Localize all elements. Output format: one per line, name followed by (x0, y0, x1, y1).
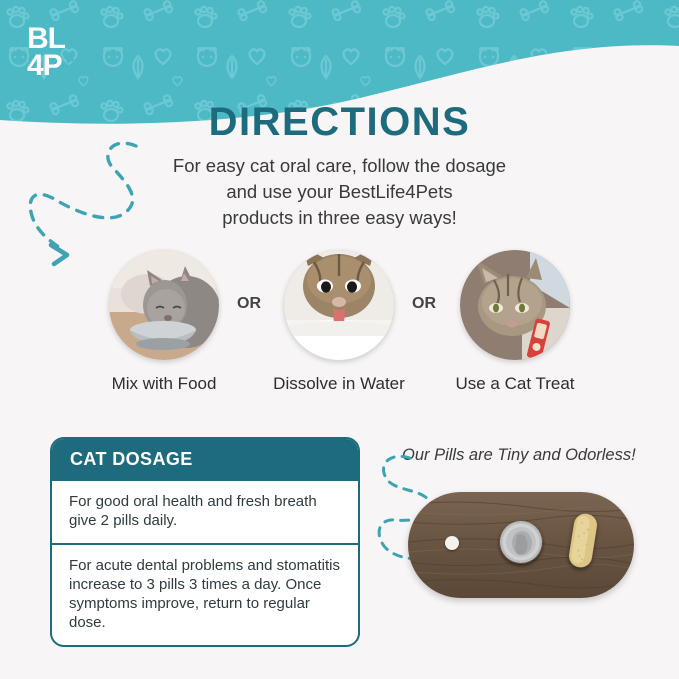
brand-logo: BL 4P (26, 20, 88, 82)
option-image-use-a-cat-treat (460, 250, 570, 360)
option-label-mix-with-food: Mix with Food (90, 374, 238, 394)
option-label-dissolve-in-water: Dissolve in Water (265, 374, 413, 394)
infographic-page: BL 4P DIRECTIONS For easy cat oral care,… (0, 0, 679, 679)
option-image-dissolve-in-water (284, 250, 394, 360)
logo-line-2: 4P (27, 49, 62, 82)
option-dissolve-in-water[interactable]: Dissolve in Water (265, 250, 413, 394)
options-row: Mix with Food OR (0, 250, 679, 395)
cat-dosage-card: CAT DOSAGE For good oral health and fres… (50, 437, 360, 647)
cat-dosage-row-1: For good oral health and fresh breath gi… (52, 481, 358, 543)
dime-coin (499, 520, 543, 564)
tiny-pill (445, 536, 459, 550)
pills-scale-photo (408, 492, 634, 598)
cat-dosage-heading: CAT DOSAGE (52, 439, 358, 481)
option-image-mix-with-food (109, 250, 219, 360)
or-separator-2: OR (412, 295, 436, 313)
or-separator-1: OR (237, 295, 261, 313)
option-label-use-a-cat-treat: Use a Cat Treat (441, 374, 589, 394)
cat-dosage-row-2: For acute dental problems and stomatitis… (52, 543, 358, 645)
option-use-a-cat-treat[interactable]: Use a Cat Treat (441, 250, 589, 394)
option-mix-with-food[interactable]: Mix with Food (90, 250, 238, 394)
